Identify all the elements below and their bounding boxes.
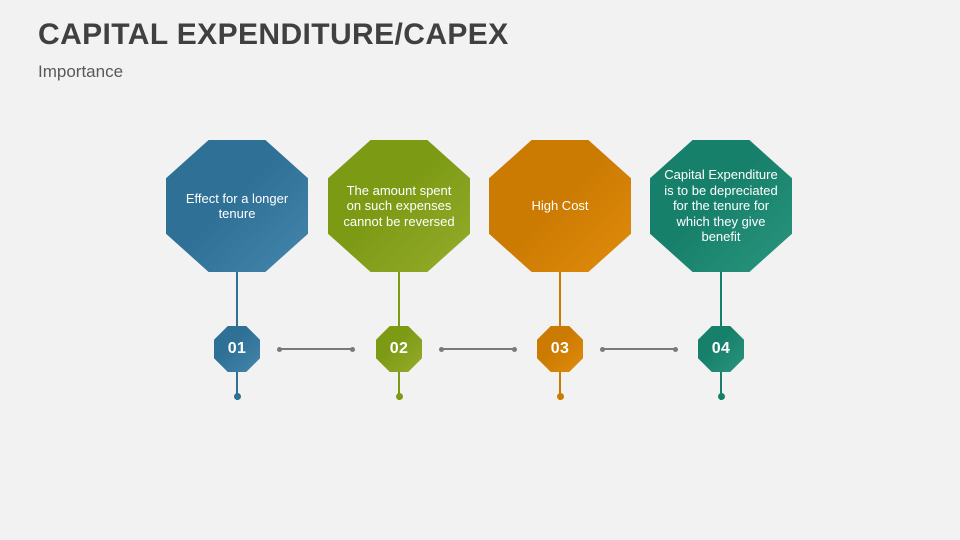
- step-badge-label-04: 04: [712, 340, 730, 358]
- node-end-dot-03: [557, 393, 564, 400]
- connector-bar: [281, 348, 351, 350]
- step-badge-01[interactable]: 01: [214, 326, 260, 372]
- connector-dot-right: [350, 347, 355, 352]
- node-end-dot-02: [396, 393, 403, 400]
- octagon-card-02[interactable]: The amount spent on such expenses cannot…: [328, 140, 470, 272]
- node-end-dot-01: [234, 393, 241, 400]
- node-end-dot-04: [718, 393, 725, 400]
- step-badge-02[interactable]: 02: [376, 326, 422, 372]
- octagon-card-03[interactable]: High Cost: [489, 140, 631, 272]
- step-badge-03[interactable]: 03: [537, 326, 583, 372]
- step-badge-label-01: 01: [228, 340, 246, 358]
- octagon-label-03: High Cost: [503, 198, 617, 214]
- octagon-timeline-diagram: Effect for a longer tenure01The amount s…: [0, 0, 960, 540]
- connector-bar: [604, 348, 674, 350]
- connector-line-3: [600, 347, 678, 351]
- connector-dot-right: [512, 347, 517, 352]
- connector-bar: [443, 348, 513, 350]
- octagon-label-04: Capital Expenditure is to be depreciated…: [664, 167, 778, 245]
- octagon-label-01: Effect for a longer tenure: [180, 191, 294, 222]
- octagon-card-01[interactable]: Effect for a longer tenure: [166, 140, 308, 272]
- octagon-label-02: The amount spent on such expenses cannot…: [342, 183, 456, 230]
- octagon-card-04[interactable]: Capital Expenditure is to be depreciated…: [650, 140, 792, 272]
- connector-line-2: [439, 347, 517, 351]
- connector-line-1: [277, 347, 355, 351]
- step-badge-label-02: 02: [390, 340, 408, 358]
- step-badge-04[interactable]: 04: [698, 326, 744, 372]
- step-badge-label-03: 03: [551, 340, 569, 358]
- connector-dot-right: [673, 347, 678, 352]
